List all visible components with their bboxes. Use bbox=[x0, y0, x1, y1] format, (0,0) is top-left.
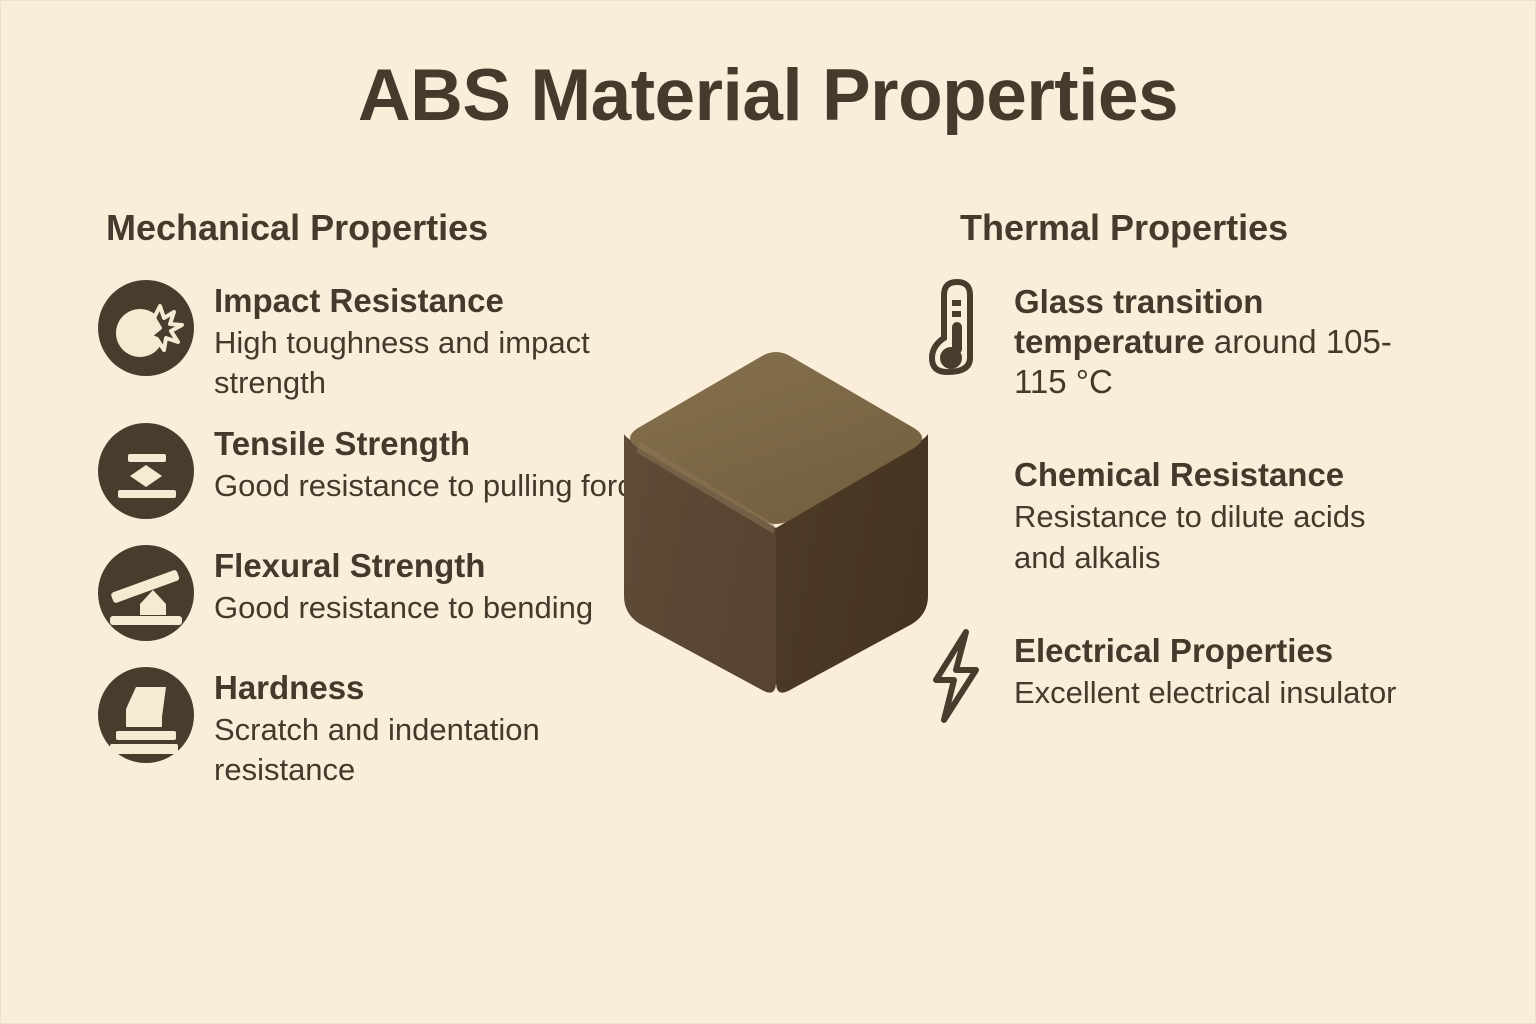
list-item-title-desc: Glass transition temperature around 105-… bbox=[1014, 282, 1414, 403]
infographic-poster: ABS Material Properties Mechanical Prope… bbox=[0, 0, 1536, 1024]
thermal-properties-column: Thermal Properties Glass transition temp… bbox=[912, 208, 1472, 774]
list-item-title: Impact Resistance bbox=[214, 282, 696, 321]
flexural-icon bbox=[96, 543, 196, 643]
hardness-icon bbox=[96, 665, 196, 765]
list-item-title: Chemical Resistance bbox=[1014, 456, 1472, 495]
list-item-desc: Scratch and indentation resistance bbox=[214, 710, 684, 791]
list-item-text: Glass transition temperature around 105-… bbox=[1014, 278, 1472, 403]
list-item: Glass transition temperature around 105-… bbox=[912, 278, 1472, 403]
impact-icon bbox=[96, 278, 196, 378]
list-item-desc: Excellent electrical insulator bbox=[1014, 673, 1414, 713]
lightning-icon bbox=[912, 628, 1002, 724]
abs-material-cube bbox=[596, 338, 956, 708]
tensile-icon bbox=[96, 421, 196, 521]
mechanical-properties-heading: Mechanical Properties bbox=[96, 208, 696, 248]
thermal-properties-list: Glass transition temperature around 105-… bbox=[912, 278, 1472, 724]
list-item: Chemical Resistance Resistance to dilute… bbox=[912, 452, 1472, 578]
list-item: Electrical Properties Excellent electric… bbox=[912, 628, 1472, 724]
thermal-properties-heading: Thermal Properties bbox=[912, 208, 1472, 248]
list-item-desc: Resistance to dilute acids and alkalis bbox=[1014, 497, 1414, 578]
list-item-text: Electrical Properties Excellent electric… bbox=[1014, 628, 1472, 713]
list-item-text: Chemical Resistance Resistance to dilute… bbox=[1014, 452, 1472, 578]
list-item-title: Electrical Properties bbox=[1014, 632, 1472, 671]
page-title: ABS Material Properties bbox=[0, 58, 1536, 135]
thermometer-icon bbox=[912, 278, 1002, 374]
